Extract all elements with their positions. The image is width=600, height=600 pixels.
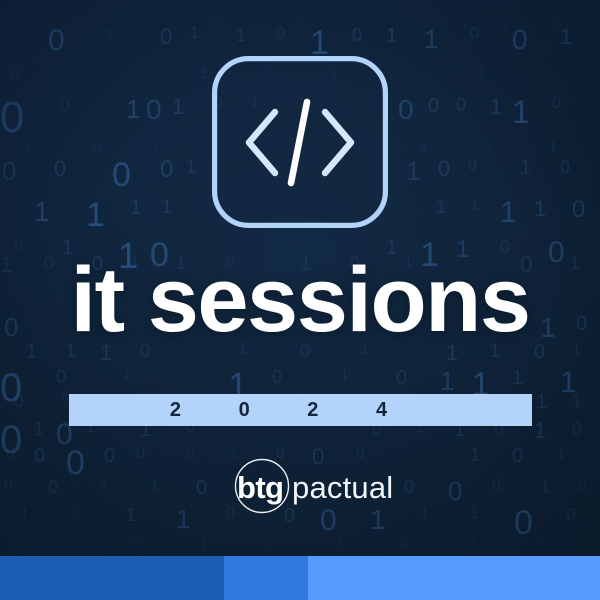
- poster-canvas: 0110101100101101011001010101010001010100…: [0, 0, 600, 600]
- bar-dark-blue: [0, 556, 224, 600]
- year-band: 2 0 2 4: [69, 394, 532, 426]
- year-label: 2 0 2 4: [144, 399, 413, 422]
- bottom-color-bars: [0, 556, 600, 600]
- bar-light-blue: [308, 556, 600, 600]
- logo-wordmark-text: pactual: [292, 470, 392, 505]
- code-brackets-icon: [212, 56, 388, 228]
- page-title: it sessions: [0, 254, 600, 346]
- logo-mark-text: btg: [237, 470, 283, 505]
- bar-mid-blue: [224, 556, 308, 600]
- btg-pactual-logo: btg pactual: [222, 458, 392, 516]
